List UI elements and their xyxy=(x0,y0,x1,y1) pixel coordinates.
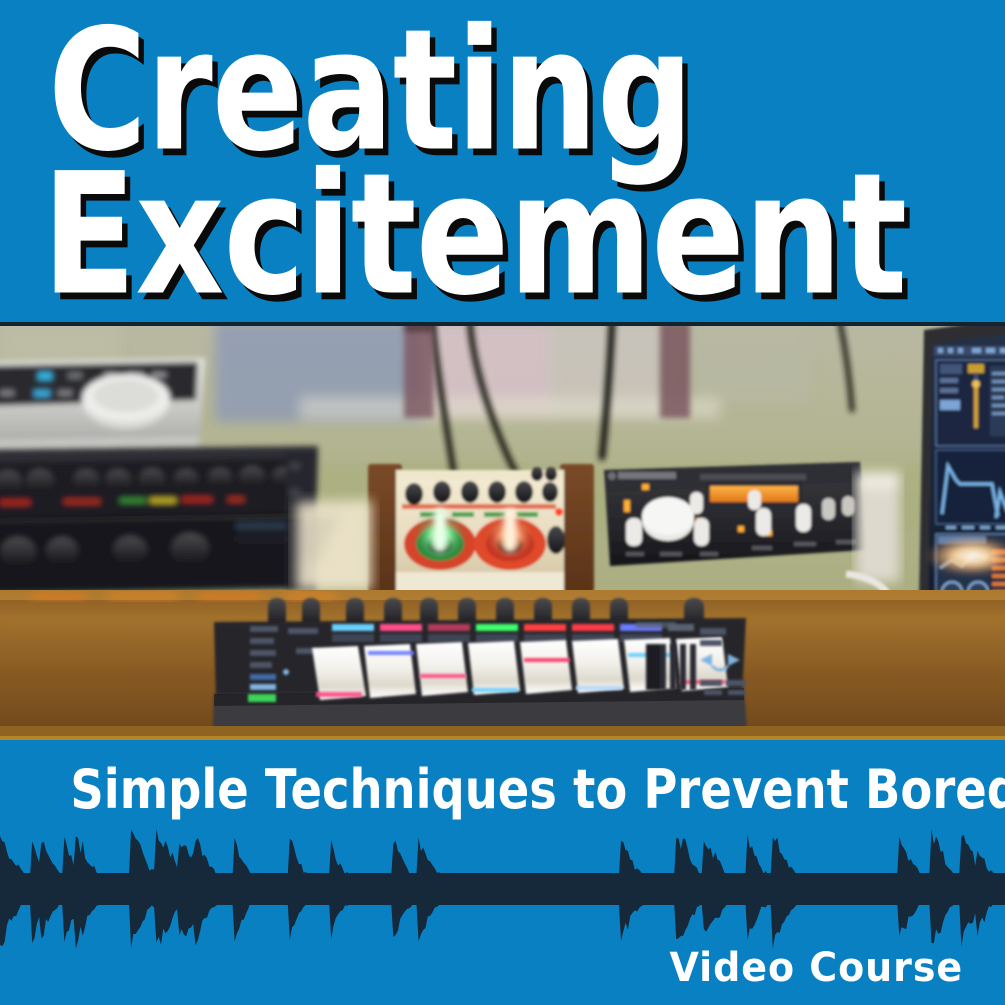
white-panel xyxy=(856,472,900,582)
audio-waveform xyxy=(0,828,1005,950)
paper-sheet xyxy=(296,500,372,590)
poster-canvas: Creating Excitement xyxy=(0,0,1005,1005)
silver-audio-interface xyxy=(0,358,205,456)
waveform-core-band xyxy=(0,873,1005,905)
black-elektron-synth xyxy=(604,462,866,566)
title-line-2: Excitement xyxy=(42,138,906,322)
subtitle-band: Simple Techniques to Prevent Boredom Vid… xyxy=(0,740,1005,1005)
footer-label: Video Course xyxy=(669,945,963,991)
studio-photo xyxy=(0,322,1005,740)
black-rack-gear-upper xyxy=(0,446,318,524)
subtitle-text: Simple Techniques to Prevent Boredom xyxy=(70,758,934,821)
black-rack-gear-lower xyxy=(0,515,318,594)
cream-synthesizer xyxy=(368,464,594,594)
title-block: Creating Excitement xyxy=(0,0,1005,322)
studio-photo-illustration xyxy=(0,322,1005,740)
